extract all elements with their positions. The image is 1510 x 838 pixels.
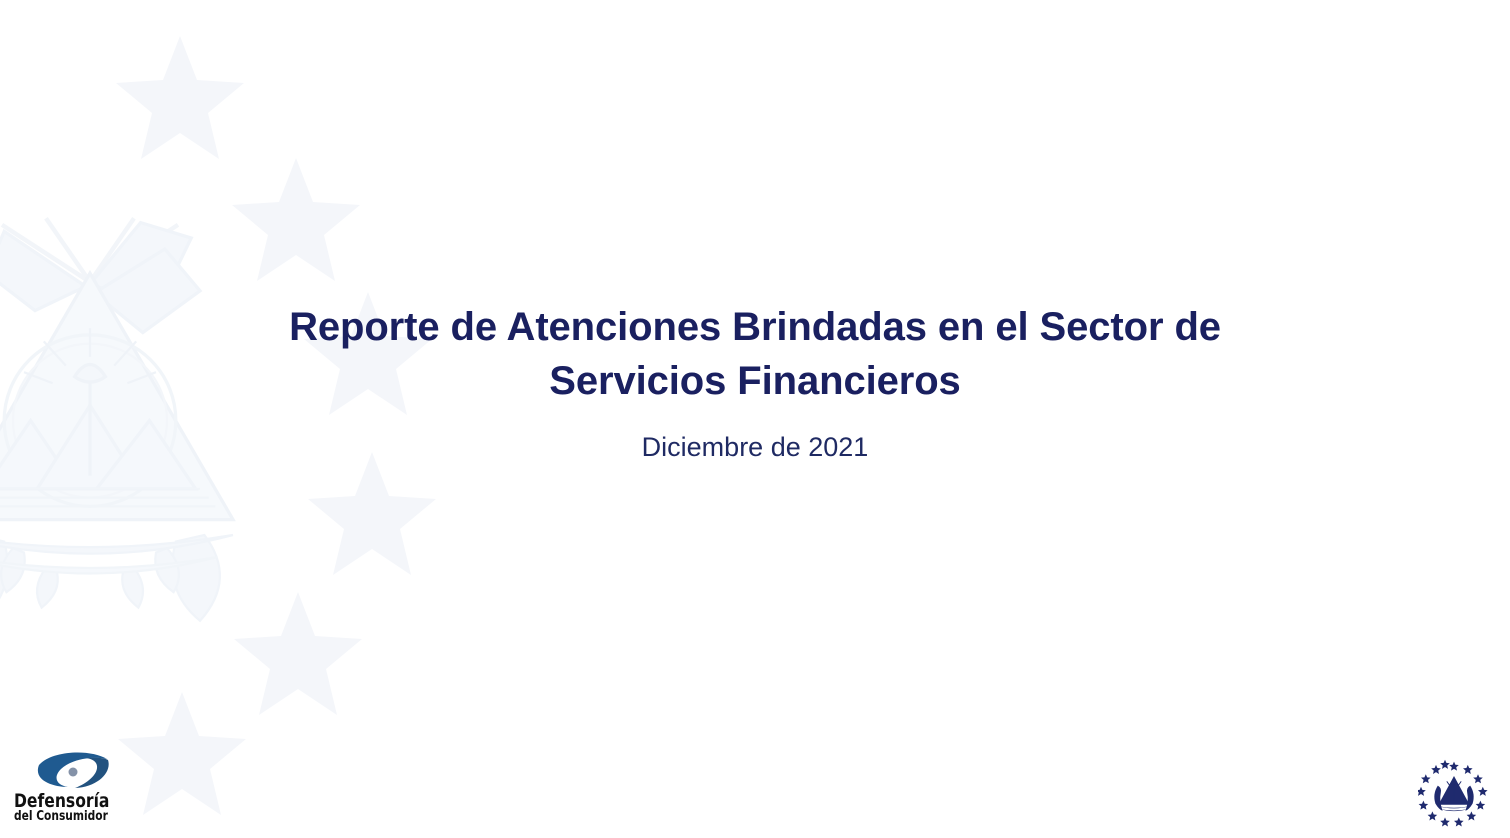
el-salvador-coat-of-arms-icon — [1418, 758, 1490, 830]
defensoria-logo-text: Defensoría del Consumidor — [14, 792, 134, 824]
page-title-line-1: Reporte de Atenciones Brindadas en el Se… — [289, 305, 1221, 349]
eye-swoosh-icon — [32, 752, 116, 792]
star-icon — [118, 692, 246, 815]
star-icon — [232, 158, 360, 281]
star-icon — [234, 592, 362, 715]
emblem-ribbon — [1437, 806, 1471, 808]
defensoria-logo: Defensoría del Consumidor — [14, 752, 134, 832]
title-block: Reporte de Atenciones Brindadas en el Se… — [0, 300, 1510, 463]
star-icon — [308, 452, 436, 575]
defensoria-logo-tagline: del Consumidor — [14, 810, 112, 824]
page-title-line-2: Servicios Financieros — [549, 359, 960, 403]
defensoria-logo-name: Defensoría — [14, 792, 112, 810]
star-icon — [116, 36, 244, 159]
page-subtitle: Diciembre de 2021 — [235, 431, 1275, 463]
title-slide: Reporte de Atenciones Brindadas en el Se… — [0, 0, 1510, 838]
page-title: Reporte de Atenciones Brindadas en el Se… — [235, 300, 1275, 409]
